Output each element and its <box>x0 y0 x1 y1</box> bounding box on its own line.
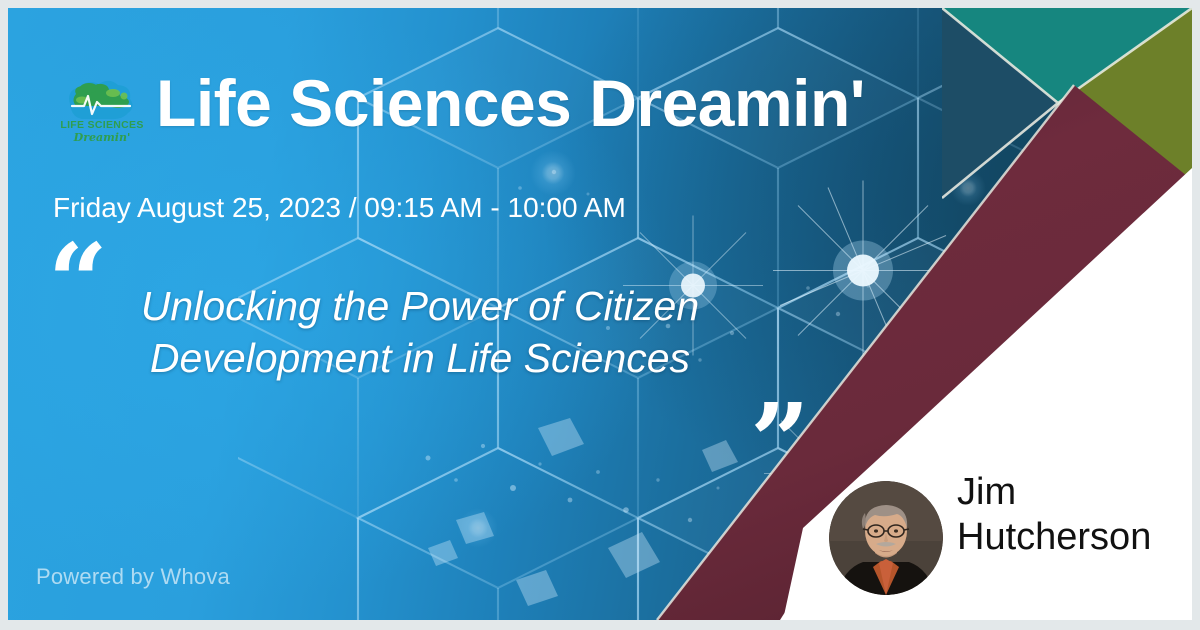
speaker-last-name: Hutcherson <box>957 515 1192 560</box>
quote-close-mark: ” <box>750 390 806 494</box>
page-title: Life Sciences Dreamin' <box>156 70 865 136</box>
speaker-name: Jim Hutcherson <box>957 470 1192 560</box>
avatar-photo <box>829 481 943 595</box>
quote-open-mark: “ <box>48 230 104 334</box>
artwork-frame: LIFE SCIENCES Dreamin' Life Sciences Dre… <box>8 8 1192 620</box>
avatar <box>823 475 949 601</box>
session-datetime: Friday August 25, 2023 / 09:15 AM - 10:0… <box>53 191 626 225</box>
session-title: Unlocking the Power of Citizen Developme… <box>116 280 724 385</box>
powered-by-label: Powered by Whova <box>36 564 230 590</box>
life-sciences-dreamin-logo: LIFE SCIENCES Dreamin' <box>56 76 148 148</box>
event-promo-card: LIFE SCIENCES Dreamin' Life Sciences Dre… <box>0 0 1200 630</box>
svg-text:LIFE SCIENCES: LIFE SCIENCES <box>60 119 143 131</box>
svg-text:Dreamin': Dreamin' <box>73 131 131 144</box>
speaker-first-name: Jim <box>957 470 1192 515</box>
